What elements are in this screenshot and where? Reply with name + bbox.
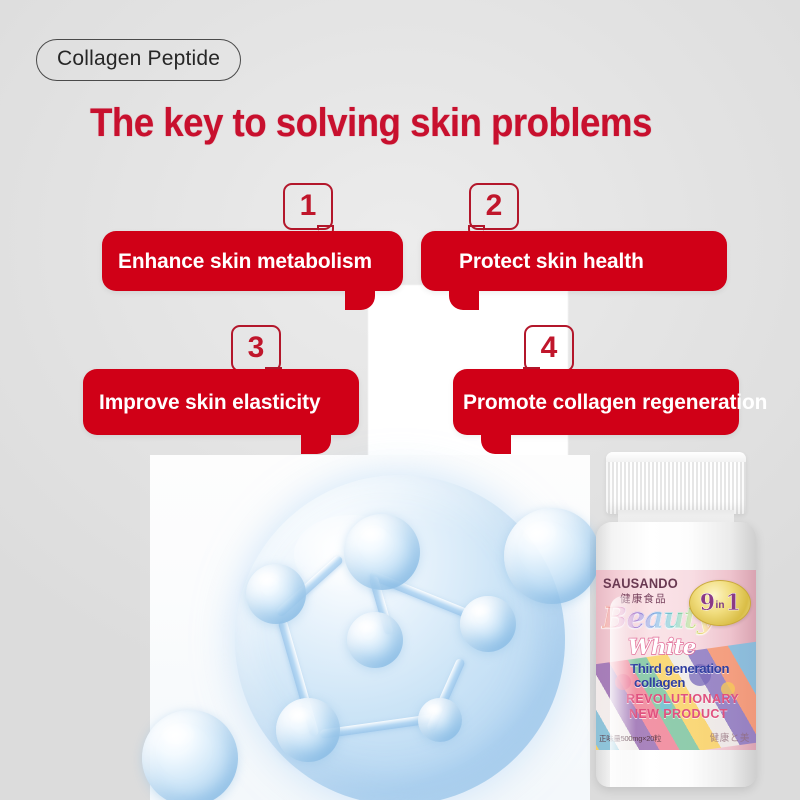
benefit-number-badge-4: 4 bbox=[524, 325, 574, 372]
benefit-label-4: Promote collagen regeneration bbox=[463, 390, 767, 415]
product-subtitle: White bbox=[628, 634, 696, 659]
category-tag: Collagen Peptide bbox=[36, 39, 241, 81]
molecule-atom bbox=[460, 596, 516, 652]
benefit-callout-4: Promote collagen regeneration bbox=[453, 369, 739, 435]
molecule-atom bbox=[344, 514, 420, 590]
brand-name: SAUSANDO bbox=[603, 576, 678, 591]
bottle-label: SAUSANDO 健康食品 Beauty 9 in 1 White Third … bbox=[596, 570, 756, 750]
product-marketing-image: SAUSANDO 健康食品 Beauty 9 in 1 White Third … bbox=[0, 0, 800, 800]
callout-notch bbox=[301, 428, 331, 454]
benefit-label-3: Improve skin elasticity bbox=[99, 390, 320, 415]
floating-bubble bbox=[142, 710, 238, 800]
bottle-cap bbox=[606, 452, 746, 514]
callout-notch bbox=[481, 428, 511, 454]
benefit-number-badge-2: 2 bbox=[469, 183, 519, 230]
benefit-number-badge-3: 3 bbox=[231, 325, 281, 372]
molecule-atom bbox=[347, 612, 403, 668]
badge-in-text: in bbox=[716, 600, 725, 611]
benefit-callout-3: Improve skin elasticity bbox=[83, 369, 359, 435]
molecule-atom bbox=[246, 564, 306, 624]
callout-notch bbox=[345, 284, 375, 310]
badge-number-label: 4 bbox=[524, 325, 574, 372]
molecule-atom bbox=[276, 698, 340, 762]
badge-number-label: 3 bbox=[231, 325, 281, 372]
tagline-text: REVOLUTIONARY NEW PRODUCT bbox=[626, 692, 739, 721]
product-bottle: SAUSANDO 健康食品 Beauty 9 in 1 White Third … bbox=[588, 452, 764, 787]
page-title: The key to solving skin problems bbox=[90, 101, 652, 146]
feature-text: Third generation collagen bbox=[630, 662, 729, 689]
badge-number2: 1 bbox=[725, 590, 740, 616]
nine-in-one-badge: 9 in 1 bbox=[689, 580, 751, 626]
callout-notch bbox=[449, 284, 479, 310]
floating-bubble bbox=[504, 508, 600, 604]
benefit-callout-1: Enhance skin metabolism bbox=[102, 231, 403, 291]
badge-number: 9 bbox=[700, 590, 715, 616]
badge-number-label: 2 bbox=[469, 183, 519, 230]
feature-line-1: Third generation bbox=[630, 661, 729, 676]
feature-line-2: collagen bbox=[630, 676, 729, 690]
footer-cn-text: 健康と美 bbox=[710, 730, 750, 744]
tagline-line-1: REVOLUTIONARY bbox=[626, 692, 739, 706]
benefit-number-badge-1: 1 bbox=[283, 183, 333, 230]
collagen-molecule-artwork bbox=[130, 430, 630, 800]
molecule-atom bbox=[418, 698, 462, 742]
net-weight-text: 正味量500mg×20粒 bbox=[599, 733, 661, 744]
benefit-label-1: Enhance skin metabolism bbox=[118, 249, 372, 274]
benefit-label-2: Protect skin health bbox=[459, 249, 644, 274]
benefit-callout-2: Protect skin health bbox=[421, 231, 727, 291]
badge-number-label: 1 bbox=[283, 183, 333, 230]
bottle-body: SAUSANDO 健康食品 Beauty 9 in 1 White Third … bbox=[596, 522, 756, 787]
tagline-line-2: NEW PRODUCT bbox=[626, 707, 739, 722]
